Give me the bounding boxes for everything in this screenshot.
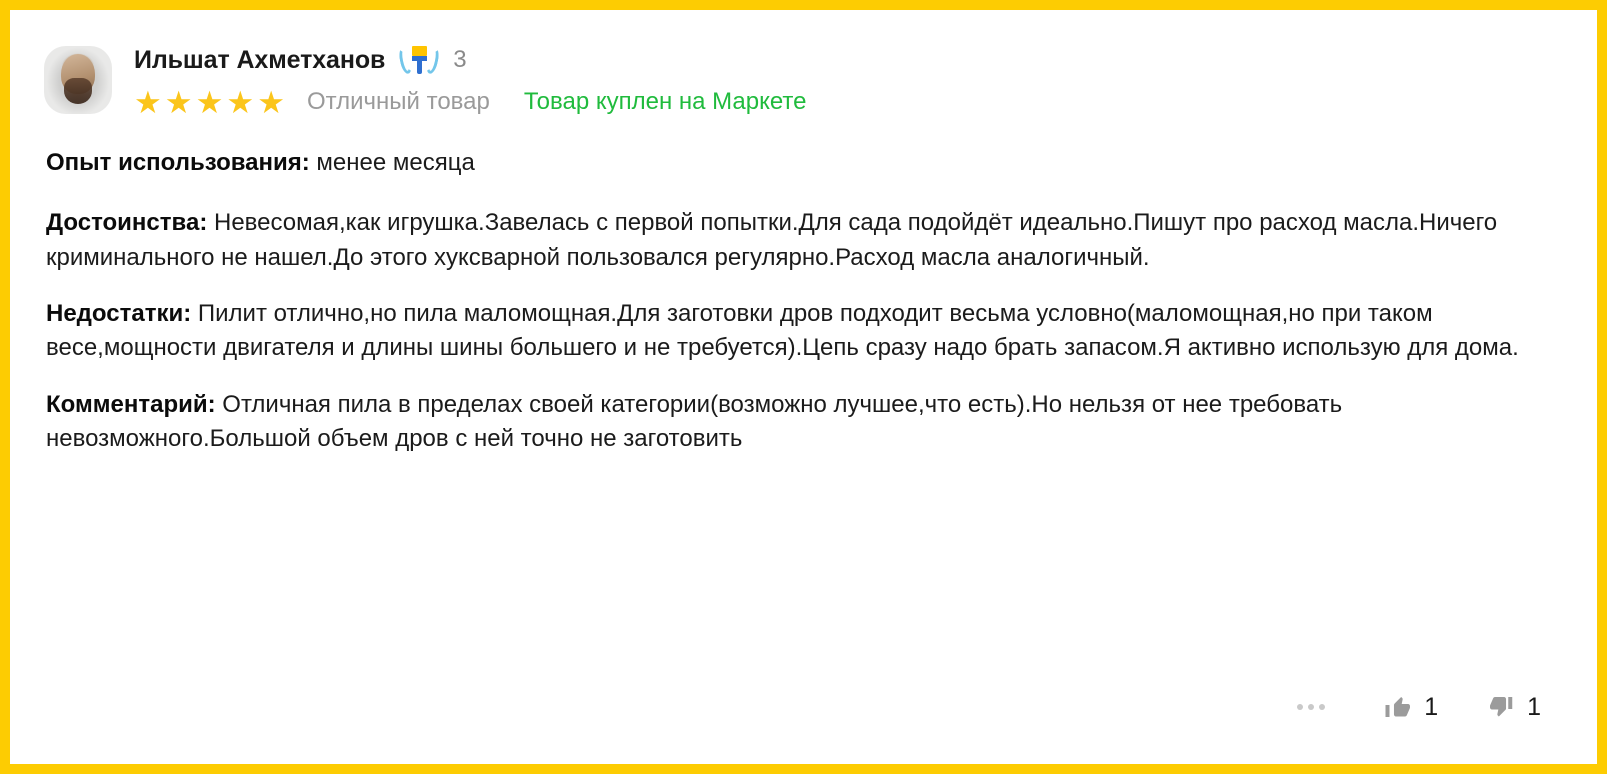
ellipsis-icon (1297, 704, 1303, 710)
star-icon-1: ★ (134, 87, 162, 118)
review-body: Опыт использования: менее месяца Достоин… (40, 146, 1540, 456)
brush-head-icon (412, 46, 427, 56)
rating-label: Отличный товар (307, 88, 490, 116)
author-name-row: Ильшат Ахметханов 3 (134, 40, 807, 80)
ellipsis-icon (1319, 704, 1325, 710)
section-text-cons: Пилит отлично,но пила маломощная.Для заг… (46, 300, 1519, 361)
ellipsis-icon (1308, 704, 1314, 710)
like-count: 1 (1424, 695, 1438, 720)
star-icon-4: ★ (226, 87, 254, 118)
section-text-comment: Отличная пила в пределах своей категории… (46, 391, 1342, 452)
dislike-count: 1 (1527, 695, 1541, 720)
rating-row: ★ ★ ★ ★ ★ Отличный товар Товар куплен на… (134, 84, 807, 120)
review-section-comment: Комментарий: Отличная пила в пределах св… (46, 388, 1540, 457)
paintbrush-laurel-badge-icon[interactable] (399, 43, 439, 77)
section-text-pros: Невесомая,как игрушка.Завелась с первой … (46, 209, 1497, 270)
star-icon-5: ★ (257, 87, 285, 118)
section-label-usage: Опыт использования: (46, 149, 310, 176)
review-section-pros: Достоинства: Невесомая,как игрушка.Завел… (46, 206, 1540, 275)
section-label-comment: Комментарий: (46, 391, 216, 418)
review-footer: 1 1 (1287, 692, 1541, 722)
review-section-cons: Недостатки: Пилит отлично,но пила маломо… (46, 297, 1540, 366)
section-text-usage: менее месяца (310, 149, 475, 176)
brush-handle-icon (417, 61, 422, 74)
thumbs-up-icon (1383, 692, 1413, 722)
market-purchase-badge: Товар куплен на Маркете (524, 88, 807, 116)
star-rating: ★ ★ ★ ★ ★ (134, 87, 285, 118)
review-card: Ильшат Ахметханов 3 ★ ★ ★ ★ ★ (0, 0, 1607, 774)
avatar (44, 46, 112, 114)
author-info: Ильшат Ахметханов 3 ★ ★ ★ ★ ★ (134, 40, 807, 120)
star-icon-2: ★ (165, 87, 193, 118)
badge-count: 3 (453, 48, 466, 72)
like-button[interactable]: 1 (1383, 692, 1438, 722)
star-icon-3: ★ (196, 87, 224, 118)
section-label-cons: Недостатки: (46, 300, 191, 327)
review-header: Ильшат Ахметханов 3 ★ ★ ★ ★ ★ (40, 40, 1563, 120)
dislike-button[interactable]: 1 (1486, 692, 1541, 722)
more-options-button[interactable] (1287, 696, 1335, 718)
thumbs-down-icon (1486, 692, 1516, 722)
section-label-pros: Достоинства: (46, 209, 207, 236)
review-section-usage: Опыт использования: менее месяца (46, 146, 1540, 180)
author-name[interactable]: Ильшат Ахметханов (134, 46, 385, 75)
